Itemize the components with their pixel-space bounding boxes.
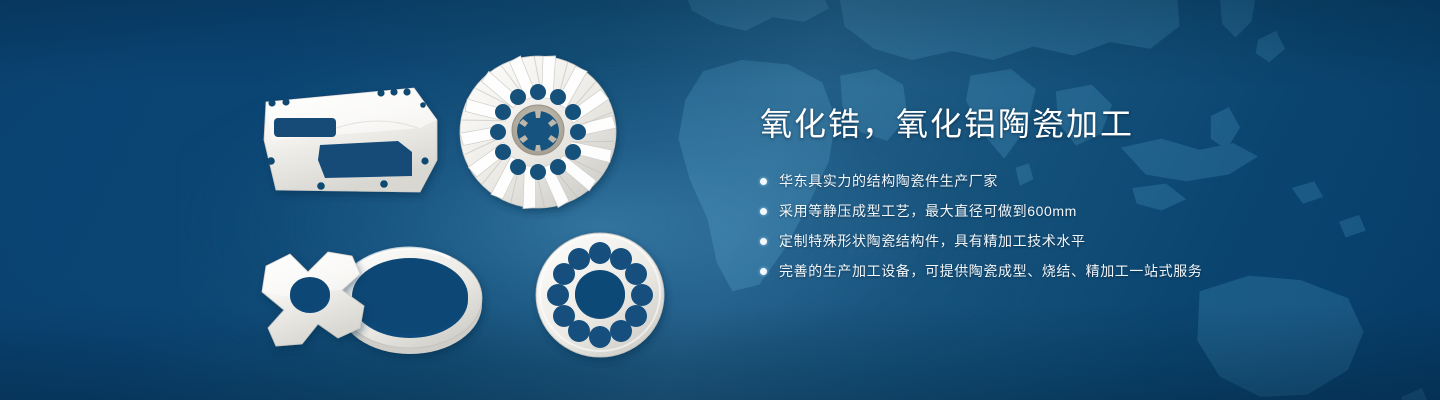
bullet-dot-icon: [760, 208, 767, 215]
list-item: 定制特殊形状陶瓷结构件，具有精加工技术水平: [760, 230, 1380, 252]
banner-feature-list: 华东具实力的结构陶瓷件生产厂家 采用等静压成型工艺，最大直径可做到600mm 定…: [760, 170, 1380, 282]
promo-banner: 氧化锆，氧化铝陶瓷加工 华东具实力的结构陶瓷件生产厂家 采用等静压成型工艺，最大…: [0, 0, 1440, 400]
list-item: 华东具实力的结构陶瓷件生产厂家: [760, 170, 1380, 192]
banner-headline: 氧化锆，氧化铝陶瓷加工: [760, 104, 1380, 144]
ceramic-mounting-plate: [264, 88, 437, 192]
list-item: 完善的生产加工设备，可提供陶瓷成型、烧结、精加工一站式服务: [760, 260, 1380, 282]
list-item: 采用等静压成型工艺，最大直径可做到600mm: [760, 200, 1380, 222]
ceramic-products-image: [0, 0, 720, 400]
banner-copy: 氧化锆，氧化铝陶瓷加工 华东具实力的结构陶瓷件生产厂家 采用等静压成型工艺，最大…: [760, 104, 1380, 290]
bullet-dot-icon: [760, 268, 767, 275]
bullet-dot-icon: [760, 238, 767, 245]
ceramic-perforated-disc: [536, 233, 664, 357]
list-item-label: 定制特殊形状陶瓷结构件，具有精加工技术水平: [779, 230, 1086, 252]
list-item-label: 完善的生产加工设备，可提供陶瓷成型、烧结、精加工一站式服务: [779, 260, 1202, 282]
bullet-dot-icon: [760, 178, 767, 185]
ceramic-ring: [338, 248, 482, 354]
ceramic-cross-part: [262, 252, 364, 346]
ceramic-impeller-disc: [459, 53, 616, 212]
list-item-label: 采用等静压成型工艺，最大直径可做到600mm: [779, 200, 1077, 222]
list-item-label: 华东具实力的结构陶瓷件生产厂家: [779, 170, 998, 192]
